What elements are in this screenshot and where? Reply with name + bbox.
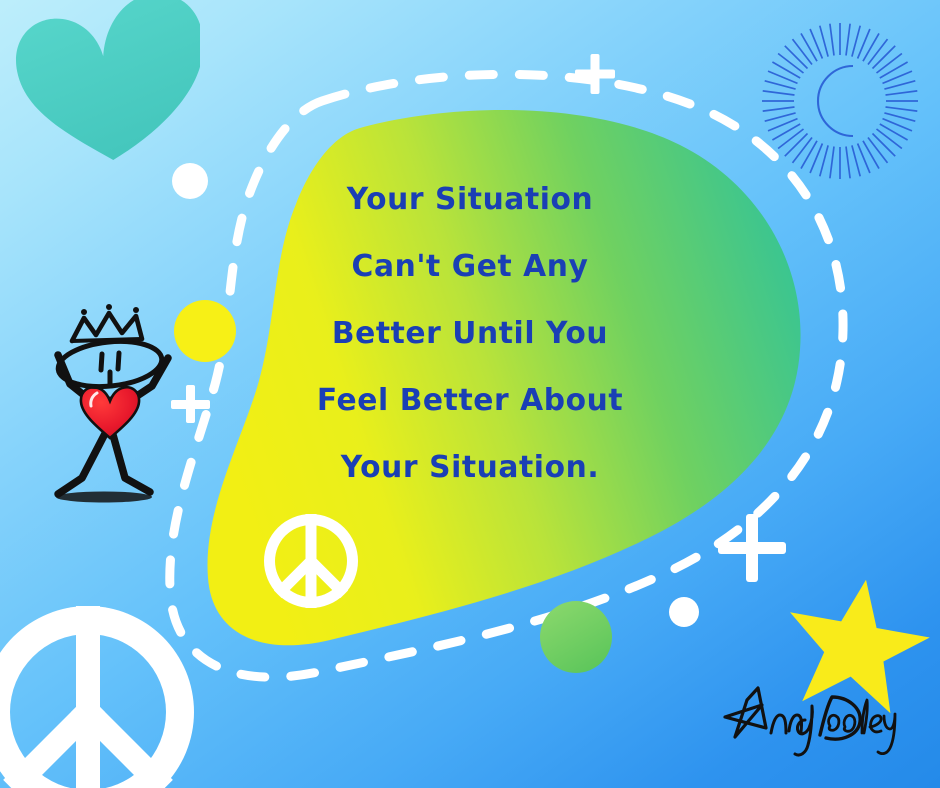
yellow-star-icon: [777, 569, 938, 720]
peace-sign-large-icon: [0, 540, 240, 788]
signature-andy-dooley: [725, 688, 895, 755]
white-plus-large-icon: [718, 514, 786, 582]
quote-graphic-canvas: Your Situation Can't Get Any Better Unti…: [0, 0, 940, 788]
artboard: [0, 0, 940, 788]
yellow-circle-icon: [174, 300, 236, 362]
stick-figure-with-crown-and-heart-icon: [56, 304, 168, 503]
white-circle-upper-left-icon: [172, 163, 208, 199]
moon-sun-rays-icon: [762, 23, 918, 179]
green-circle-icon: [540, 601, 612, 673]
white-plus-small-top-icon: [575, 54, 615, 94]
peace-sign-small-icon: [250, 498, 378, 626]
teal-heart-icon: [9, 0, 218, 172]
white-circle-bottom-icon: [669, 597, 699, 627]
